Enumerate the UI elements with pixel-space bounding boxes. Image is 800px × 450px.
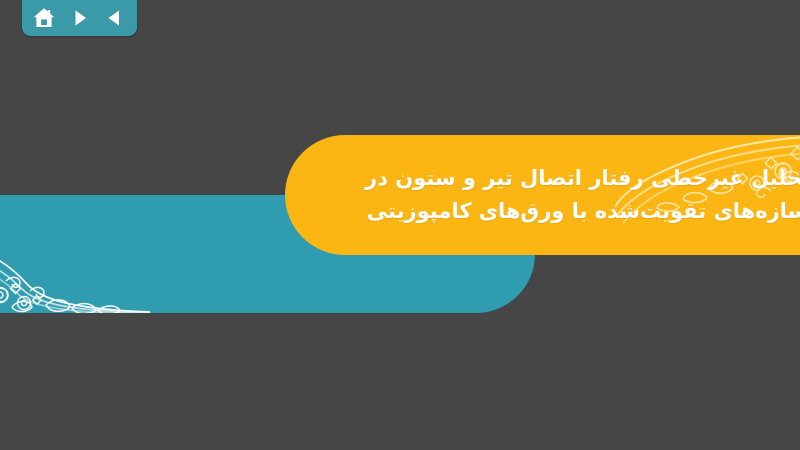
home-icon (32, 6, 56, 30)
forward-button[interactable] (65, 4, 95, 32)
slide-title: تحلیل غیرخطی رفتار اتصال تیر و ستون در س… (330, 135, 800, 255)
slide-canvas: تحلیل غیرخطی رفتار اتصال تیر و ستون در س… (0, 0, 800, 450)
home-button[interactable] (29, 4, 59, 32)
title-line-2: سازه‌های تقویت‌شده با ورق‌های کامپوزیتی (367, 195, 800, 228)
back-button[interactable] (100, 4, 130, 32)
title-line-1: تحلیل غیرخطی رفتار اتصال تیر و ستون در (365, 162, 800, 195)
orange-title-panel: تحلیل غیرخطی رفتار اتصال تیر و ستون در س… (285, 135, 800, 255)
navigation-bar (22, 0, 137, 36)
back-arrow-icon (104, 7, 126, 29)
forward-arrow-icon (69, 7, 91, 29)
arabesque-corner-ornament-teal (0, 195, 150, 313)
